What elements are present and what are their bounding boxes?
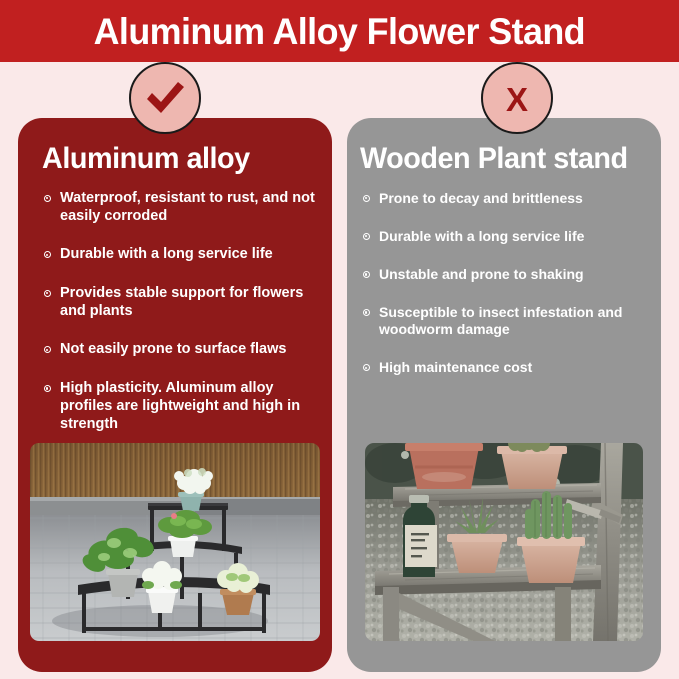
aluminum-flower-stand-photo bbox=[30, 443, 320, 641]
list-item-text: Unstable and prone to shaking bbox=[379, 266, 584, 282]
list-item-text: Durable with a long service life bbox=[379, 228, 584, 244]
list-item: Prone to decay and brittleness bbox=[363, 190, 655, 207]
page-title: Aluminum Alloy Flower Stand bbox=[94, 13, 585, 50]
list-item: Waterproof, resistant to rust, and not e… bbox=[44, 190, 316, 225]
bullet-dot-icon bbox=[44, 251, 51, 258]
bullet-dot-icon bbox=[44, 346, 51, 353]
list-item-text: High maintenance cost bbox=[379, 359, 532, 375]
aluminum-benefit-list: Waterproof, resistant to rust, and not e… bbox=[44, 190, 316, 433]
aluminum-alloy-card: Aluminum alloy Waterproof, resistant to … bbox=[18, 118, 332, 672]
wooden-plant-stand-card: Wooden Plant stand Prone to decay and br… bbox=[347, 118, 661, 672]
list-item: Unstable and prone to shaking bbox=[363, 266, 655, 283]
list-item-text: Durable with a long service life bbox=[60, 246, 273, 262]
list-item-text: Not easily prone to surface flaws bbox=[60, 341, 286, 357]
list-item-text: Prone to decay and brittleness bbox=[379, 190, 583, 206]
list-item: Susceptible to insect infestation and wo… bbox=[363, 304, 655, 338]
wooden-card-title: Wooden Plant stand bbox=[360, 144, 649, 174]
bullet-dot-icon bbox=[363, 271, 370, 278]
x-icon: X bbox=[506, 83, 528, 116]
comparison-infographic: Aluminum Alloy Flower Stand X Aluminum a… bbox=[0, 0, 679, 679]
bullet-dot-icon bbox=[44, 290, 51, 297]
aluminum-card-title: Aluminum alloy bbox=[42, 144, 320, 174]
bullet-dot-icon bbox=[44, 385, 51, 392]
bullet-dot-icon bbox=[363, 309, 370, 316]
bullet-dot-icon bbox=[363, 364, 370, 371]
check-icon bbox=[144, 80, 186, 116]
list-item: Provides stable support for flowers and … bbox=[44, 285, 316, 320]
list-item-text: High plasticity. Aluminum alloy profiles… bbox=[60, 380, 300, 431]
wooden-plant-stand-photo bbox=[365, 443, 643, 641]
list-item: Durable with a long service life bbox=[363, 228, 655, 245]
list-item: Durable with a long service life bbox=[44, 246, 316, 264]
list-item-text: Waterproof, resistant to rust, and not e… bbox=[60, 190, 315, 224]
header-banner: Aluminum Alloy Flower Stand bbox=[0, 0, 679, 62]
list-item: High maintenance cost bbox=[363, 359, 655, 376]
bullet-dot-icon bbox=[363, 195, 370, 202]
list-item-text: Provides stable support for flowers and … bbox=[60, 285, 303, 319]
bullet-dot-icon bbox=[44, 195, 51, 202]
list-item-text: Susceptible to insect infestation and wo… bbox=[379, 304, 622, 337]
bullet-dot-icon bbox=[363, 233, 370, 240]
list-item: High plasticity. Aluminum alloy profiles… bbox=[44, 380, 316, 433]
x-badge: X bbox=[481, 62, 553, 134]
list-item: Not easily prone to surface flaws bbox=[44, 341, 316, 359]
check-badge bbox=[129, 62, 201, 134]
wooden-drawback-list: Prone to decay and brittleness Durable w… bbox=[363, 190, 655, 376]
